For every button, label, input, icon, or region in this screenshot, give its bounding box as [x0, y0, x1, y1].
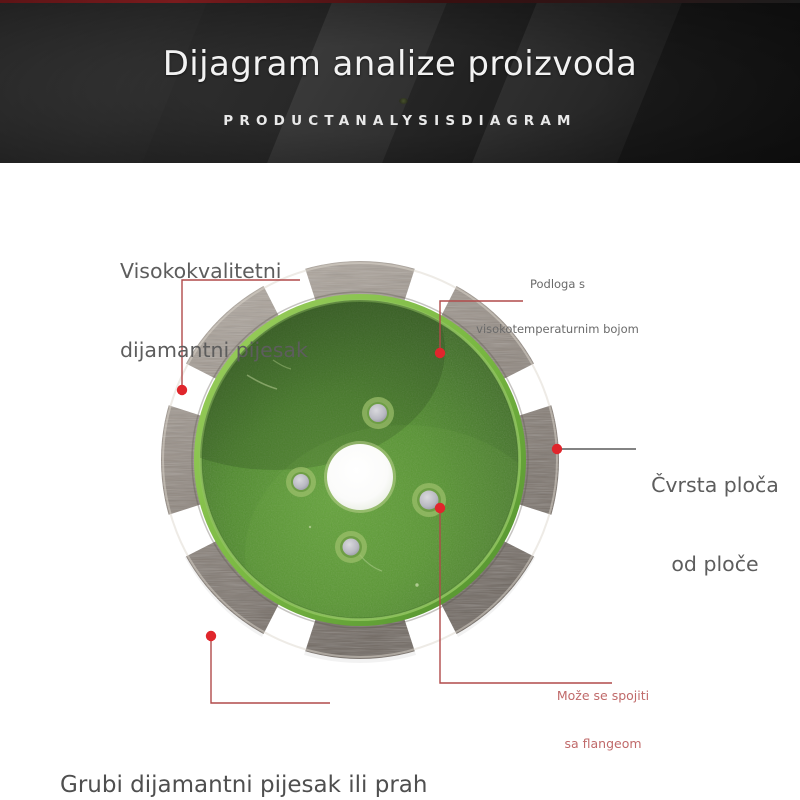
callout-line-1: Grubi dijamantni pijesak ili prah — [60, 771, 427, 800]
bolt-hole — [362, 397, 394, 429]
callout-line-2: dijamantni pijesak — [120, 337, 308, 363]
page-title: Dijagram analize proizvoda — [0, 44, 800, 84]
callout-label-high-temperature-base: Podloga s visokotemperaturnim bojom — [470, 248, 645, 366]
banner-speck — [399, 98, 408, 104]
callout-line-2: od ploče — [640, 551, 790, 577]
callout-line-1: Visokokvalitetni — [120, 258, 308, 284]
banner-accent-line — [0, 0, 800, 3]
callout-label-flange-connectable: Može se spojiti sa flangeom — [528, 656, 678, 784]
callout-label-high-quality-diamond-sand: Visokokvalitetni dijamantni pijesak — [120, 206, 308, 416]
callout-line-2: visokotemperaturnim bojom — [470, 322, 645, 337]
blade-arbor-hole — [324, 441, 396, 513]
callout-line-1: Čvrsta ploča — [640, 472, 790, 498]
page-subtitle: PRODUCTANALYSISDIAGRAM — [0, 113, 800, 129]
bolt-hole — [286, 467, 316, 497]
bolt-hole — [412, 483, 446, 517]
header-banner: Dijagram analize proizvoda PRODUCTANALYS… — [0, 0, 800, 163]
callout-label-solid-plate: Čvrsta ploča od ploče — [640, 420, 790, 630]
callout-line-1: Podloga s — [470, 277, 645, 292]
callout-line-2: sa flangeom — [528, 736, 678, 752]
callout-label-coarse-diamond-sand: Grubi dijamantni pijesak ili prah — [60, 712, 427, 800]
page-root: Dijagram analize proizvoda PRODUCTANALYS… — [0, 0, 800, 800]
bolt-hole — [335, 531, 367, 563]
callout-line-1: Može se spojiti — [528, 688, 678, 704]
